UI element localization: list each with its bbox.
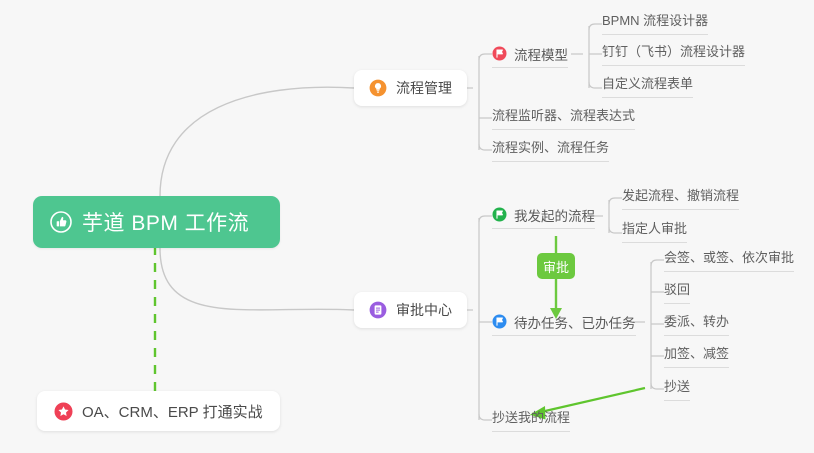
- leaf-start-cancel-process[interactable]: 发起流程、撤销流程: [622, 185, 739, 210]
- sub-node-todo-done-tasks[interactable]: 待办任务、已办任务: [492, 310, 636, 336]
- leaf-designated-approver[interactable]: 指定人审批: [622, 218, 687, 243]
- branch-label-process-management: 流程管理: [396, 78, 452, 98]
- leaf-add-remove-signer[interactable]: 加签、减签: [664, 343, 729, 368]
- flag-green-icon: [492, 207, 507, 222]
- branch-label-approval-center: 审批中心: [396, 300, 452, 320]
- root-label: 芋道 BPM 工作流: [82, 207, 249, 237]
- integration-label: OA、CRM、ERP 打通实战: [82, 401, 263, 422]
- sub-label-my-initiated-process: 我发起的流程: [514, 205, 595, 225]
- sub-node-process-model[interactable]: 流程模型: [492, 42, 568, 68]
- annotation-approval-label: 审批: [537, 253, 575, 279]
- star-red-icon: [54, 402, 73, 421]
- leaf-process-instance-task[interactable]: 流程实例、流程任务: [492, 137, 609, 162]
- leaf-reject[interactable]: 驳回: [664, 279, 690, 304]
- leaf-delegate-transfer[interactable]: 委派、转办: [664, 311, 729, 336]
- branch-node-approval-center[interactable]: 审批中心: [354, 292, 467, 328]
- leaf-countersign-orsign-sequential[interactable]: 会签、或签、依次审批: [664, 247, 794, 272]
- leaf-process-listener-expression[interactable]: 流程监听器、流程表达式: [492, 105, 635, 130]
- integration-node[interactable]: OA、CRM、ERP 打通实战: [37, 391, 280, 431]
- leaf-carbon-copy[interactable]: 抄送: [664, 376, 690, 401]
- sub-node-my-initiated-process[interactable]: 我发起的流程: [492, 203, 595, 229]
- flag-red-icon: [492, 46, 507, 61]
- mindmap-canvas: 芋道 BPM 工作流 流程管理 流程模型 BPMN 流程设计器 钉钉（飞书）流程…: [0, 0, 814, 453]
- leaf-dingtalk-feishu-designer[interactable]: 钉钉（飞书）流程设计器: [602, 41, 745, 66]
- document-purple-icon: [369, 301, 387, 319]
- leaf-cc-to-me-process[interactable]: 抄送我的流程: [492, 407, 570, 432]
- flag-blue-icon: [492, 314, 507, 329]
- sub-label-todo-done-tasks: 待办任务、已办任务: [514, 312, 636, 332]
- leaf-bpmn-designer[interactable]: BPMN 流程设计器: [602, 10, 708, 35]
- branch-node-process-management[interactable]: 流程管理: [354, 70, 467, 106]
- sub-label-process-model: 流程模型: [514, 44, 568, 64]
- root-node[interactable]: 芋道 BPM 工作流: [33, 196, 280, 248]
- thumbs-up-icon: [50, 211, 72, 233]
- leaf-custom-process-form[interactable]: 自定义流程表单: [602, 73, 693, 98]
- lightbulb-icon: [369, 79, 387, 97]
